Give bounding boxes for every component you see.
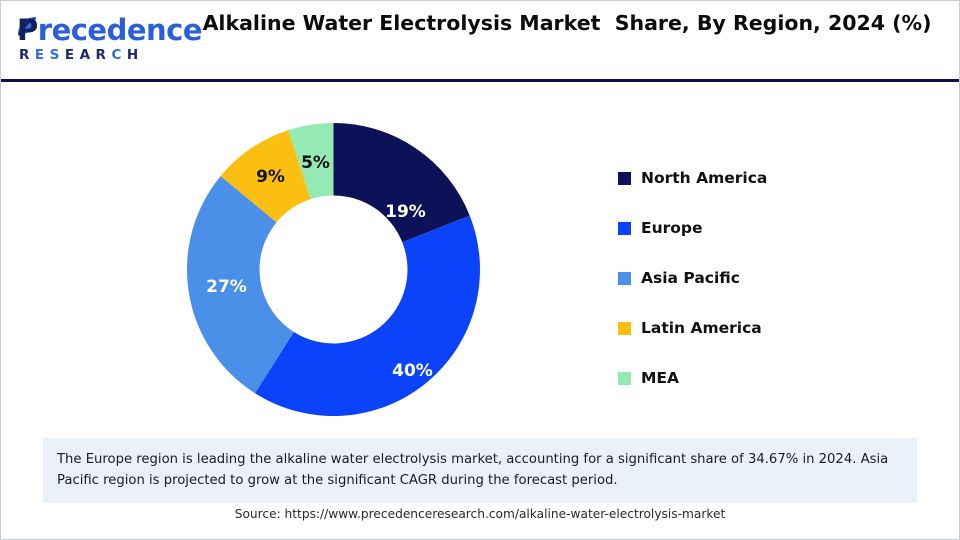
donut-slice-europe[interactable] bbox=[255, 216, 480, 416]
donut-label-asia-pacific: 27% bbox=[206, 277, 247, 297]
insight-callout: The Europe region is leading the alkalin… bbox=[43, 438, 917, 503]
donut-slice-group bbox=[187, 123, 480, 416]
donut-label-europe: 40% bbox=[392, 361, 433, 381]
donut-label-latin-america: 9% bbox=[256, 167, 285, 187]
legend-item-label: Asia Pacific bbox=[641, 269, 740, 287]
donut-label-north-america: 19% bbox=[385, 202, 426, 222]
chart-plot-area: 19%40%27%9%5% North AmericaEuropeAsia Pa… bbox=[1, 85, 959, 425]
legend-item-label: MEA bbox=[641, 369, 679, 387]
legend-swatch-icon bbox=[618, 272, 631, 285]
legend-item-label: Latin America bbox=[641, 319, 762, 337]
legend-swatch-icon bbox=[618, 372, 631, 385]
source-line: Source: https://www.precedenceresearch.c… bbox=[1, 507, 959, 521]
legend-swatch-icon bbox=[618, 172, 631, 185]
donut-chart: 19%40%27%9%5% bbox=[187, 123, 480, 416]
legend-swatch-icon bbox=[618, 222, 631, 235]
chart-legend: North AmericaEuropeAsia PacificLatin Ame… bbox=[618, 153, 898, 403]
donut-label-mea: 5% bbox=[301, 153, 330, 173]
logo-wordmark-rest: recedence bbox=[38, 13, 202, 47]
precedence-research-logo: Precedence RESEARCH bbox=[11, 13, 171, 65]
logo-wordmark: Precedence bbox=[17, 13, 202, 47]
legend-item-latin-america[interactable]: Latin America bbox=[618, 303, 898, 353]
legend-item-north-america[interactable]: North America bbox=[618, 153, 898, 203]
legend-item-mea[interactable]: MEA bbox=[618, 353, 898, 403]
legend-item-asia-pacific[interactable]: Asia Pacific bbox=[618, 253, 898, 303]
header: Precedence RESEARCH Alkaline Water Elect… bbox=[1, 1, 959, 82]
legend-item-label: North America bbox=[641, 169, 767, 187]
logo-wordmark-capital: P bbox=[17, 13, 38, 47]
insight-text: The Europe region is leading the alkalin… bbox=[57, 449, 903, 491]
chart-infographic-page: Precedence RESEARCH Alkaline Water Elect… bbox=[0, 0, 960, 540]
donut-chart-svg bbox=[187, 123, 480, 416]
logo-subtitle: RESEARCH bbox=[19, 47, 144, 63]
legend-item-label: Europe bbox=[641, 219, 703, 237]
legend-swatch-icon bbox=[618, 322, 631, 335]
page-title: Alkaline Water Electrolysis Market Share… bbox=[197, 9, 937, 38]
legend-item-europe[interactable]: Europe bbox=[618, 203, 898, 253]
